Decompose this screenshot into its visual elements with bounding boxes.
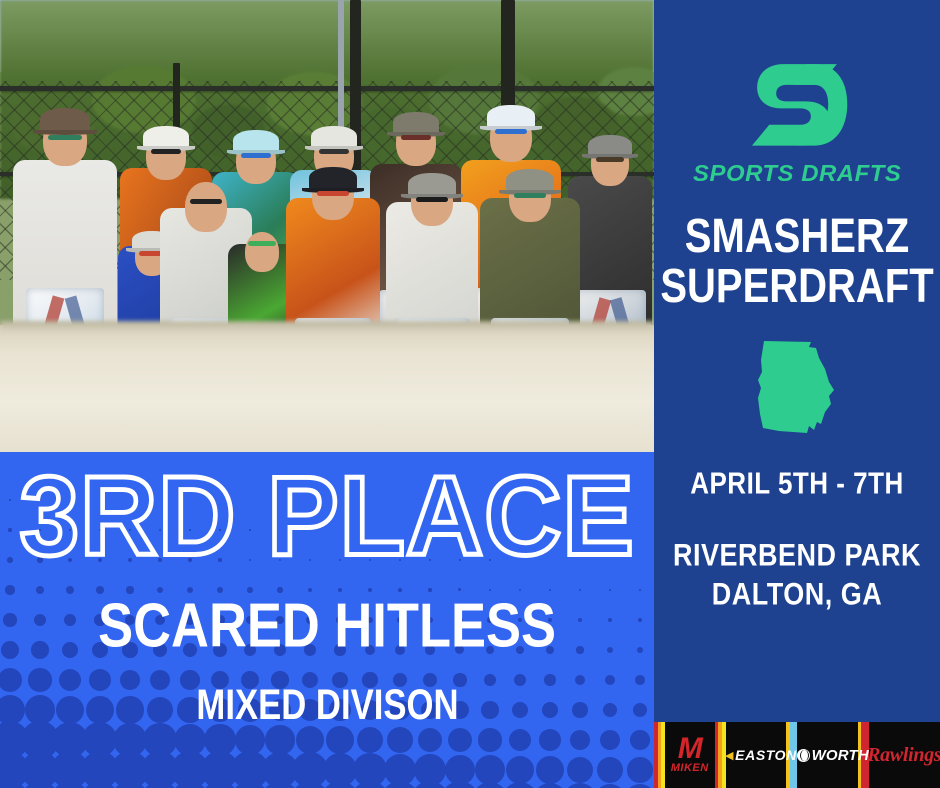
event-title: SMASHERZ SUPERDRAFT bbox=[660, 211, 933, 313]
photo-person-sunglasses bbox=[151, 149, 181, 154]
photo-person-cap bbox=[233, 130, 279, 152]
sponsor-rawlings[interactable]: Rawlings bbox=[869, 722, 940, 788]
photo-person-sunglasses bbox=[495, 129, 527, 134]
event-venue: RIVERBEND PARK DALTON, GA bbox=[673, 536, 921, 614]
easton-chevron-icon: ◂ bbox=[726, 746, 734, 764]
brand-wordmark: SPORTS DRAFTS bbox=[693, 160, 901, 187]
tournament-result-poster: 3RD PLACE SCARED HITLESS MIXED DIVISON S… bbox=[0, 0, 940, 788]
photo-person-sunglasses bbox=[319, 149, 349, 154]
miken-m-icon: M bbox=[678, 737, 702, 761]
event-title-line2: SUPERDRAFT bbox=[660, 262, 933, 313]
sponsor-name: MIKEN bbox=[671, 762, 709, 774]
sponsor-name: EASTON bbox=[735, 747, 797, 763]
georgia-state-icon bbox=[751, 338, 843, 444]
sponsor-worth[interactable]: WORTH bbox=[797, 722, 869, 788]
photo-person-sunglasses bbox=[401, 135, 431, 140]
sd-monogram-icon bbox=[745, 58, 849, 150]
left-column: 3RD PLACE SCARED HITLESS MIXED DIVISON bbox=[0, 0, 654, 788]
photo-person-cap bbox=[40, 108, 90, 132]
info-sidebar: SPORTS DRAFTS SMASHERZ SUPERDRAFT APRIL … bbox=[654, 0, 940, 788]
photo-person-cap bbox=[309, 167, 357, 190]
photo-person-cap bbox=[393, 112, 439, 134]
result-text-stack: 3RD PLACE SCARED HITLESS MIXED DIVISON bbox=[0, 452, 654, 788]
photo-person-cap bbox=[311, 126, 357, 148]
photo-person-cap bbox=[408, 173, 456, 196]
venue-city: DALTON, GA bbox=[673, 575, 921, 614]
photo-person-sunglasses bbox=[317, 191, 349, 196]
photo-person-sunglasses bbox=[190, 199, 222, 204]
photo-person-sunglasses bbox=[48, 135, 82, 140]
photo-person-cap bbox=[487, 105, 535, 128]
photo-person-cap bbox=[588, 135, 632, 156]
sponsor-stripes-right bbox=[715, 722, 726, 788]
photo-person-head bbox=[185, 182, 227, 232]
sponsor-miken[interactable]: M MIKEN bbox=[654, 722, 726, 788]
rawlings-script-icon: Rawlings bbox=[869, 744, 940, 767]
brand-logo: SPORTS DRAFTS bbox=[697, 58, 897, 187]
photo-person-head bbox=[245, 232, 279, 272]
state-graphic bbox=[751, 338, 843, 449]
sponsor-stripes-left bbox=[654, 722, 665, 788]
event-title-line1: SMASHERZ bbox=[660, 211, 933, 262]
sponsor-bar: M MIKEN ◂ EASTON WORTH bbox=[654, 716, 940, 788]
result-panel: 3RD PLACE SCARED HITLESS MIXED DIVISON bbox=[0, 452, 654, 788]
placement-title: 3RD PLACE bbox=[19, 462, 634, 572]
photo-fence-top-rail bbox=[0, 86, 654, 91]
venue-name: RIVERBEND PARK bbox=[673, 536, 921, 575]
event-dates: APRIL 5TH - 7TH bbox=[690, 465, 904, 502]
division-label: MIXED DIVISON bbox=[196, 684, 458, 727]
sponsor-easton[interactable]: ◂ EASTON bbox=[726, 722, 798, 788]
photo-person-sunglasses bbox=[596, 157, 624, 162]
photo-person-cap bbox=[143, 126, 189, 148]
team-photo bbox=[0, 0, 654, 452]
photo-person-sunglasses bbox=[416, 197, 448, 202]
photo-person-cap bbox=[506, 169, 554, 192]
photo-person-sunglasses bbox=[241, 153, 271, 158]
photo-person-sunglasses bbox=[514, 193, 546, 198]
team-name: SCARED HITLESS bbox=[98, 594, 556, 657]
photo-person-sunglasses bbox=[248, 241, 276, 246]
sponsor-name: WORTH bbox=[812, 747, 869, 764]
photo-ground bbox=[0, 325, 654, 452]
worth-ball-icon bbox=[797, 749, 810, 762]
